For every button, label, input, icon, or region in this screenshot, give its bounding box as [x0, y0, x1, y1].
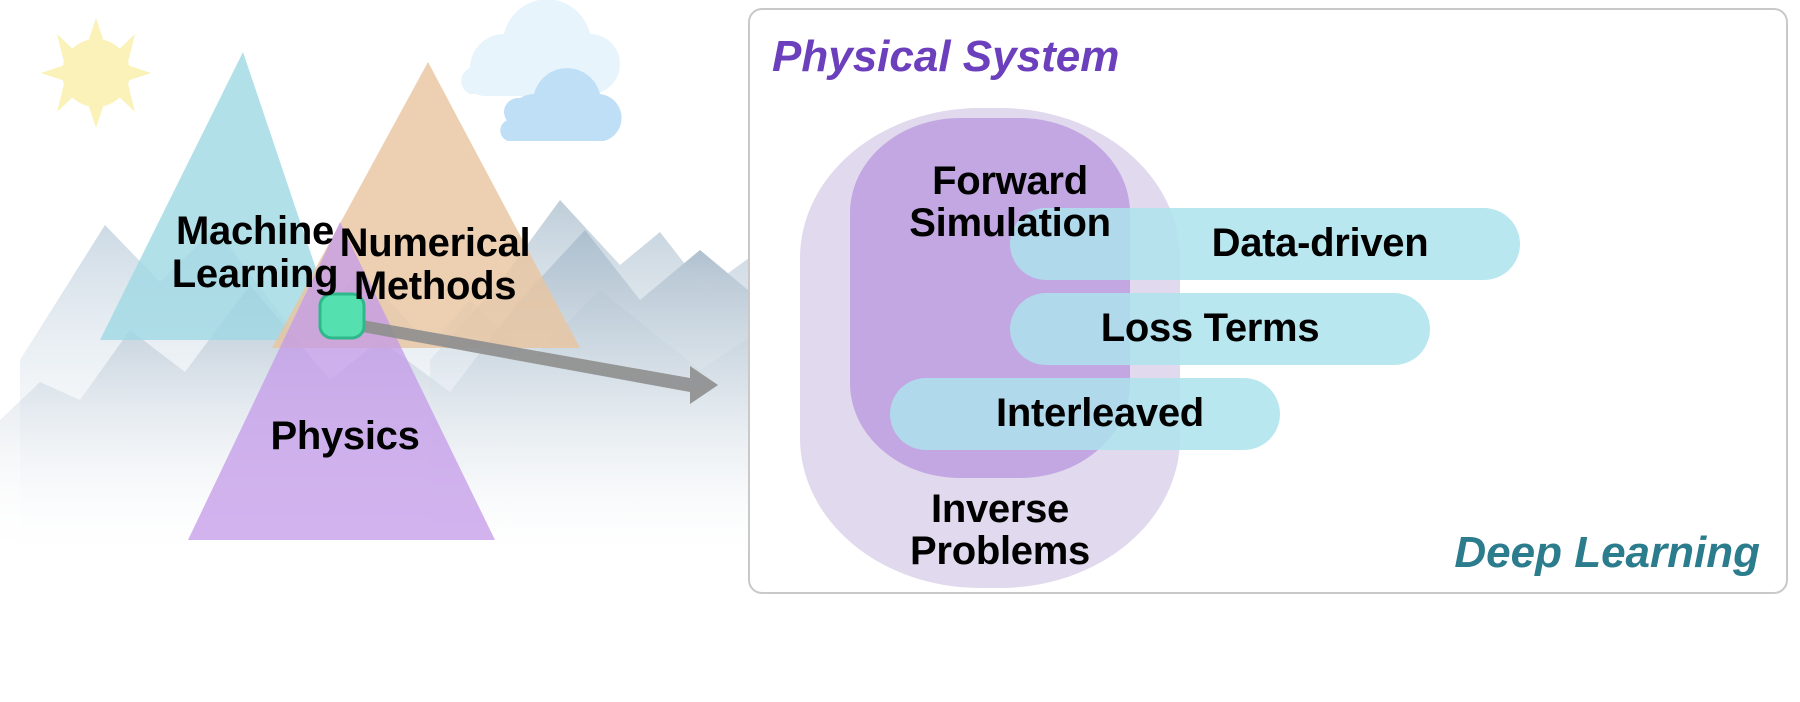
deep-learning-card: Physical System Forward Simulation Data-…	[748, 8, 1788, 594]
card-title-physical-system: Physical System	[772, 32, 1119, 82]
sun-icon	[41, 18, 151, 128]
label-interleaved: Interleaved	[910, 392, 1290, 434]
triangle-label-machine-learning: Machine Learning	[150, 210, 360, 296]
label-forward-simulation: Forward Simulation	[880, 160, 1140, 245]
card-title-deep-learning: Deep Learning	[1454, 528, 1760, 578]
diagram-root: Machine Learning Numerical Methods Physi…	[0, 0, 1800, 702]
triangle-label-physics: Physics	[235, 415, 455, 458]
label-loss-terms: Loss Terms	[1010, 307, 1410, 349]
left-scene: Machine Learning Numerical Methods Physi…	[0, 0, 760, 702]
triangle-label-numerical-methods: Numerical Methods	[330, 222, 540, 308]
label-data-driven: Data-driven	[1150, 222, 1490, 264]
label-inverse-problems: Inverse Problems	[870, 488, 1130, 573]
